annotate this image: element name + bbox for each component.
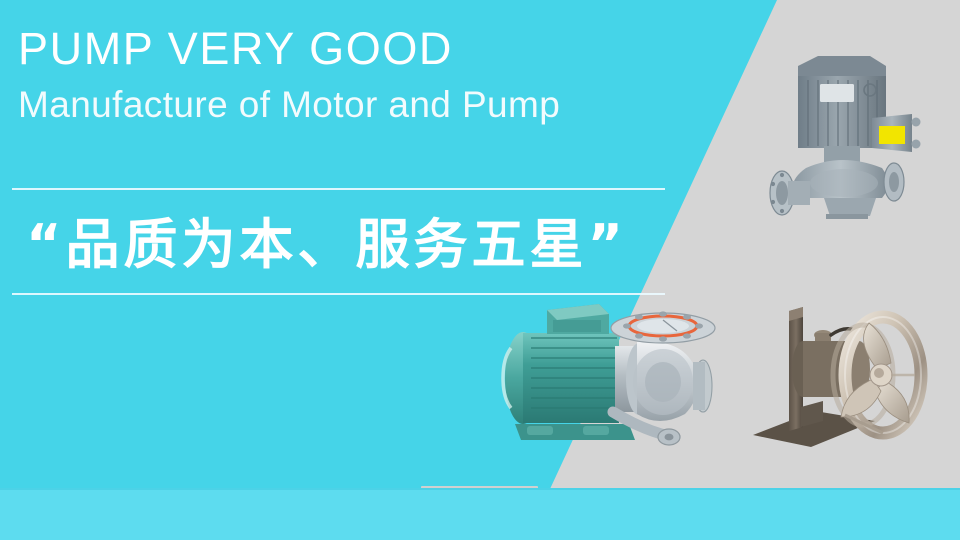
footer-strip bbox=[0, 488, 960, 540]
mixer-illustration bbox=[745, 295, 950, 460]
divider-top bbox=[12, 188, 665, 190]
inline-pump-illustration bbox=[760, 48, 945, 223]
page-title: PUMP VERY GOOD bbox=[18, 22, 718, 75]
divider-bottom bbox=[12, 293, 665, 295]
page-subtitle: Manufacture of Motor and Pump bbox=[18, 83, 718, 127]
headline-block: PUMP VERY GOOD Manufacture of Motor and … bbox=[18, 22, 718, 127]
slogan-text: “品质为本、服务五星” bbox=[26, 203, 627, 287]
product-horizontal-centrifugal-pump bbox=[487, 300, 747, 465]
promo-banner: PUMP VERY GOOD Manufacture of Motor and … bbox=[0, 0, 960, 540]
centrifugal-pump-illustration bbox=[487, 300, 747, 465]
product-inline-pipeline-pump bbox=[760, 48, 945, 223]
product-submersible-mixer bbox=[745, 295, 950, 460]
